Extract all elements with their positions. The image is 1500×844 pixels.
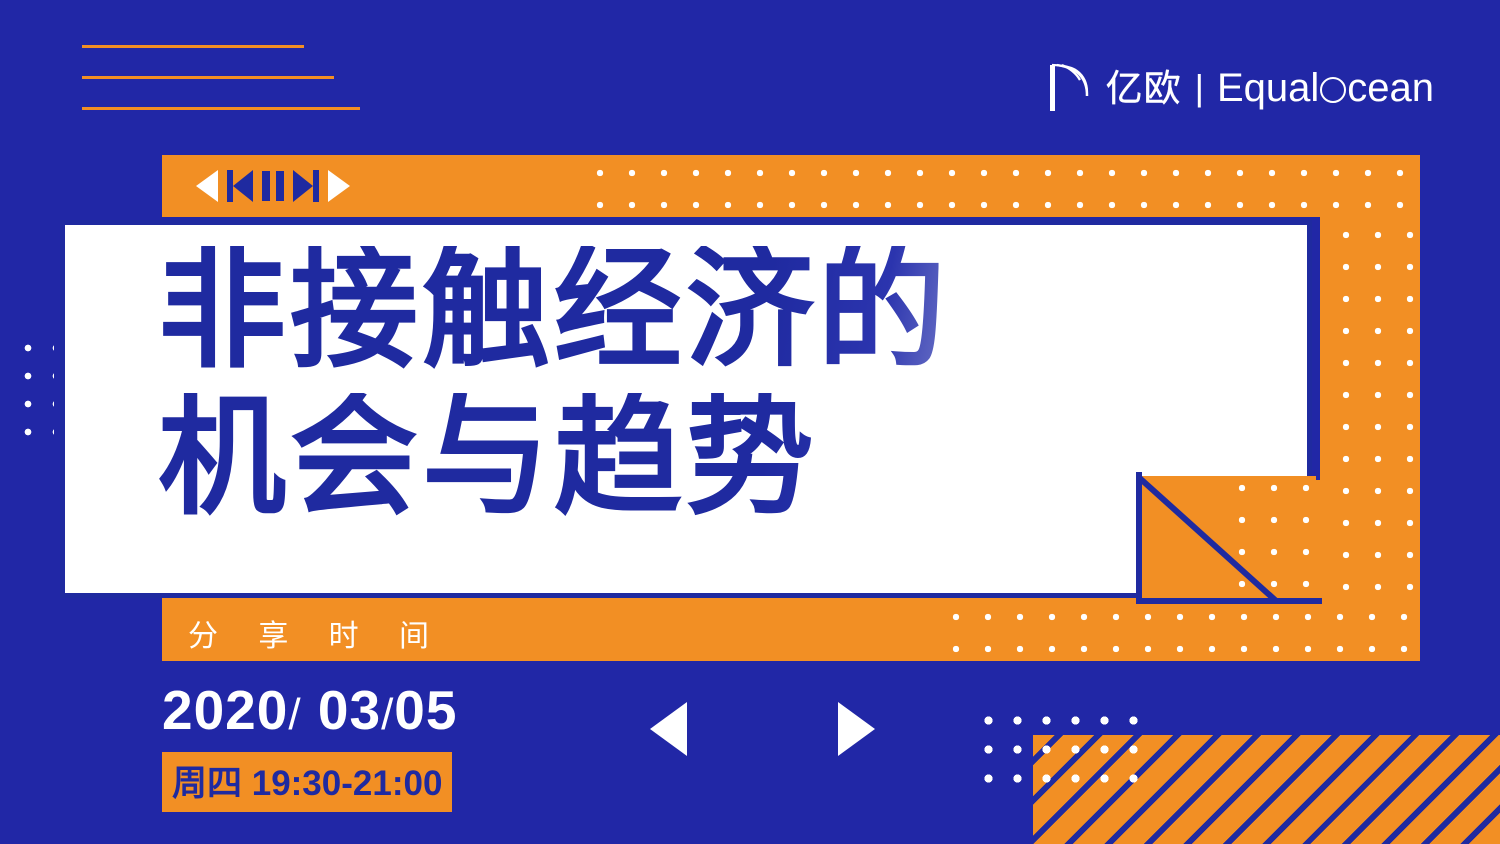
rewind-triangle-icon[interactable] — [196, 170, 218, 202]
page-title: 非接触经济的 机会与趋势 — [158, 246, 1158, 523]
dot-grid-left-icon — [12, 332, 54, 448]
brand-cn-name: 亿欧 — [1106, 70, 1182, 107]
brand-divider: | — [1195, 70, 1204, 106]
skip-previous-icon[interactable] — [227, 170, 253, 202]
event-date-sep-1: / — [288, 690, 301, 739]
chevron-left-triangle-icon[interactable] — [650, 702, 687, 756]
frame-bar-right — [1320, 217, 1420, 661]
pause-icon[interactable] — [262, 171, 284, 201]
dot-grid-top-icon — [162, 155, 1420, 217]
notch-diagonal-decor — [1140, 476, 1316, 604]
brand-en-ring-icon — [1320, 77, 1346, 103]
event-date: 2020/ 03/05 — [162, 678, 457, 742]
brand-en-name: Equal cean — [1217, 68, 1434, 108]
decorative-rule-3 — [82, 107, 360, 110]
event-date-month: 03 — [318, 679, 381, 741]
notch-frame-horizontal — [1136, 598, 1322, 604]
chevron-right-triangle-icon[interactable] — [838, 702, 875, 756]
play-triangle-icon[interactable] — [328, 170, 350, 202]
share-time-band: 分 享 时 间 — [162, 597, 1420, 661]
brand-en-part2: cean — [1347, 68, 1434, 108]
event-date-day: 05 — [394, 679, 457, 741]
dot-grid-bottom-icon — [968, 700, 1138, 784]
skip-next-icon[interactable] — [293, 170, 319, 202]
event-date-year: 2020 — [162, 679, 288, 741]
decorative-rule-group — [82, 45, 382, 138]
decorative-rule-1 — [82, 45, 304, 48]
brand-en-part1: Equal — [1217, 68, 1319, 108]
dot-grid-right-icon — [1320, 217, 1420, 661]
share-time-label: 分 享 时 间 — [188, 611, 445, 655]
yiou-fountain-logo-icon — [1049, 62, 1093, 114]
frame-bar-top — [162, 155, 1420, 217]
brand-logo: 亿欧 | Equal cean — [1049, 62, 1434, 114]
event-time-badge: 周四 19:30-21:00 — [162, 752, 452, 812]
media-transport-controls[interactable] — [196, 170, 350, 202]
page-title-line-2: 机会与趋势 — [158, 393, 1128, 522]
event-date-sep-2: / — [381, 690, 394, 739]
page-title-line-1: 非接触经济的 — [158, 246, 1128, 375]
decorative-rule-2 — [82, 76, 334, 79]
